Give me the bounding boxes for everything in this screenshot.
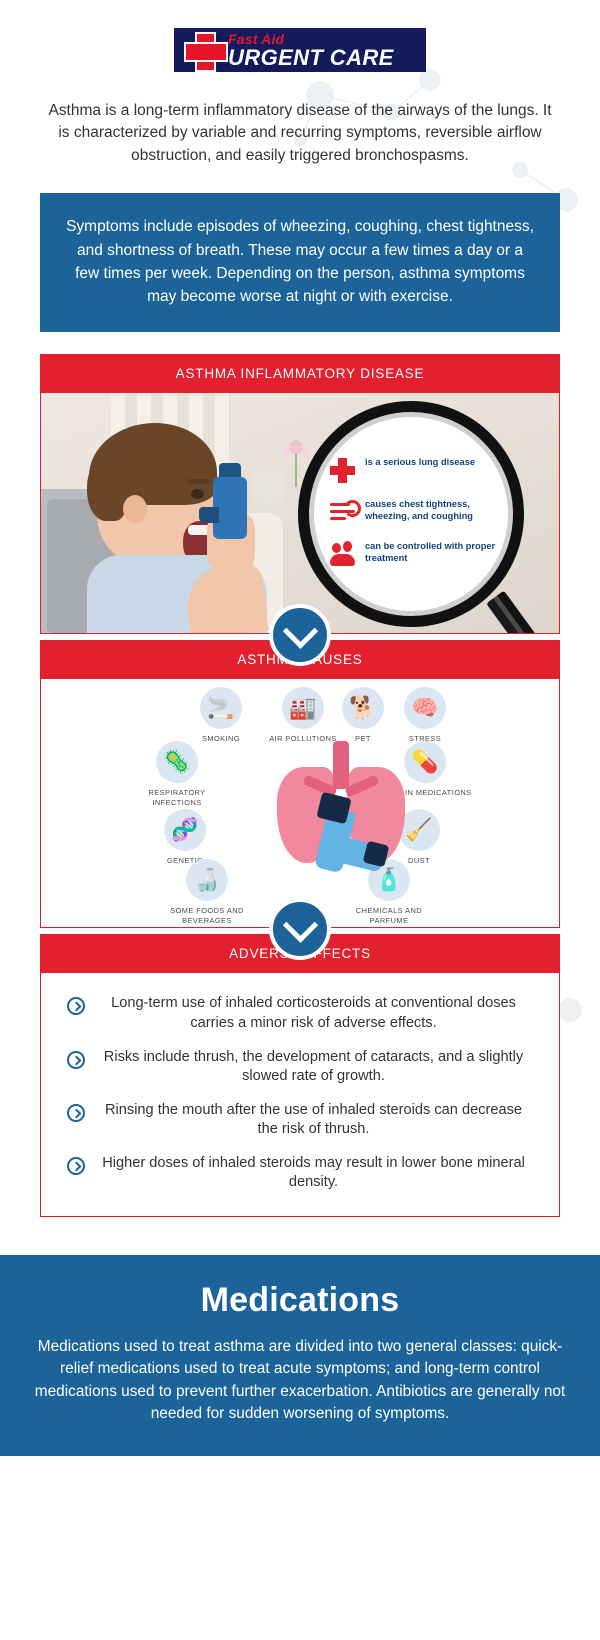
chevron-right-circle-icon <box>67 1157 85 1175</box>
list-item: Risks include thrush, the development of… <box>61 1041 539 1094</box>
magnifier-points-list: is a serious lung disease causes chest t… <box>330 457 506 567</box>
list-item: Long-term use of inhaled corticosteroids… <box>61 987 539 1040</box>
logo-main-text: URGENT CARE <box>228 47 394 69</box>
symptoms-band: Symptoms include episodes of wheezing, c… <box>40 193 560 332</box>
logo[interactable]: Fast Aid URGENT CARE <box>174 28 426 72</box>
inhaler-icon <box>213 477 247 539</box>
magnifier-point-text: can be controlled with proper treatment <box>365 541 506 565</box>
bullet-text: Rinsing the mouth after the use of inhal… <box>94 1101 533 1140</box>
cause-label: RESPIRATORY INFECTIONS <box>129 788 225 807</box>
bullet-text: Risks include thrush, the development of… <box>94 1048 533 1087</box>
magnifier-point-text: is a serious lung disease <box>365 457 475 469</box>
circle-arrow-down-icon <box>269 898 331 960</box>
chevron-right-circle-icon <box>67 1104 85 1122</box>
infographic-page: Fast Aid URGENT CARE Asthma is a long-te… <box>0 0 600 1640</box>
medical-cross-icon <box>182 31 226 69</box>
magnifier-point: is a serious lung disease <box>330 457 506 483</box>
magnifier-point: causes chest tightness, wheezing, and co… <box>330 499 506 525</box>
lungs-with-inhaler-icon <box>273 741 409 869</box>
section-asthma-inflammatory-disease: ASTHMA INFLAMMATORY DISEASE <box>40 354 560 634</box>
list-item: Rinsing the mouth after the use of inhal… <box>61 1094 539 1147</box>
adverse-effects-list: Long-term use of inhaled corticosteroids… <box>41 973 559 1215</box>
boy-illustration <box>79 415 299 633</box>
cause-label: SOME FOODS AND BEVERAGES <box>159 906 255 925</box>
intro-paragraph: Asthma is a long-term inflammatory disea… <box>46 100 554 167</box>
medications-title: Medications <box>34 1281 566 1320</box>
dna-icon: 🧬 <box>164 809 206 851</box>
cause-item-respiratory-infections: 🦠 RESPIRATORY INFECTIONS <box>129 741 225 807</box>
trachea <box>333 741 349 789</box>
medications-section: Medications Medications used to treat as… <box>0 1255 600 1456</box>
section-adverse-effects: ADVERSE EFFECTS Long-term use of inhaled… <box>40 934 560 1216</box>
magnifier-point-text: causes chest tightness, wheezing, and co… <box>365 499 506 523</box>
causes-diagram: 🚬 SMOKING 🏭 AIR POLLUTIONS 🐕 PET 🧠 STRES… <box>41 679 559 927</box>
boy-eyebrow <box>187 479 209 484</box>
inhaler-cap <box>316 792 351 824</box>
cause-item-some-foods-and-beverages: 🍶 SOME FOODS AND BEVERAGES <box>159 859 255 925</box>
cause-label: CHEMICALS AND PARFUME <box>341 906 437 925</box>
cigarette-icon: 🚬 <box>200 687 242 729</box>
list-item: Higher doses of inhaled steroids may res… <box>61 1147 539 1200</box>
people-group-icon <box>330 541 356 567</box>
circle-arrow-down-icon <box>269 604 331 666</box>
bullet-text: Higher doses of inhaled steroids may res… <box>94 1154 533 1193</box>
virus-icon: 🦠 <box>156 741 198 783</box>
cause-item-stress: 🧠 STRESS <box>377 687 473 743</box>
boy-using-inhaler-photo: is a serious lung disease causes chest t… <box>41 393 559 633</box>
magnifier-point: can be controlled with proper treatment <box>330 541 506 567</box>
bottle-drink-icon: 🍶 <box>186 859 228 901</box>
center-inhaler-icon <box>311 795 383 871</box>
cause-item-genetic: 🧬 GENETIC <box>137 809 233 865</box>
stressed-head-icon: 🧠 <box>404 687 446 729</box>
brand-header: Fast Aid URGENT CARE <box>0 0 600 72</box>
section-title-inflammatory: ASTHMA INFLAMMATORY DISEASE <box>41 355 559 393</box>
section-asthma-causes: ASTHMA CAUSES 🚬 SMOKING 🏭 AIR POLLUTIONS… <box>40 640 560 928</box>
chevron-right-circle-icon <box>67 1051 85 1069</box>
medications-paragraph: Medications used to treat asthma are div… <box>34 1336 566 1426</box>
pill-blister-icon: 💊 <box>404 741 446 783</box>
magnifying-glass: is a serious lung disease causes chest t… <box>298 401 524 627</box>
logo-top-text: Fast Aid <box>228 32 394 46</box>
boy-hair-side <box>87 459 127 521</box>
chevron-right-circle-icon <box>67 997 85 1015</box>
red-cross-icon <box>330 457 356 483</box>
symptoms-text: Symptoms include episodes of wheezing, c… <box>66 218 534 305</box>
bullet-text: Long-term use of inhaled corticosteroids… <box>94 994 533 1033</box>
wind-lines-icon <box>330 499 356 525</box>
